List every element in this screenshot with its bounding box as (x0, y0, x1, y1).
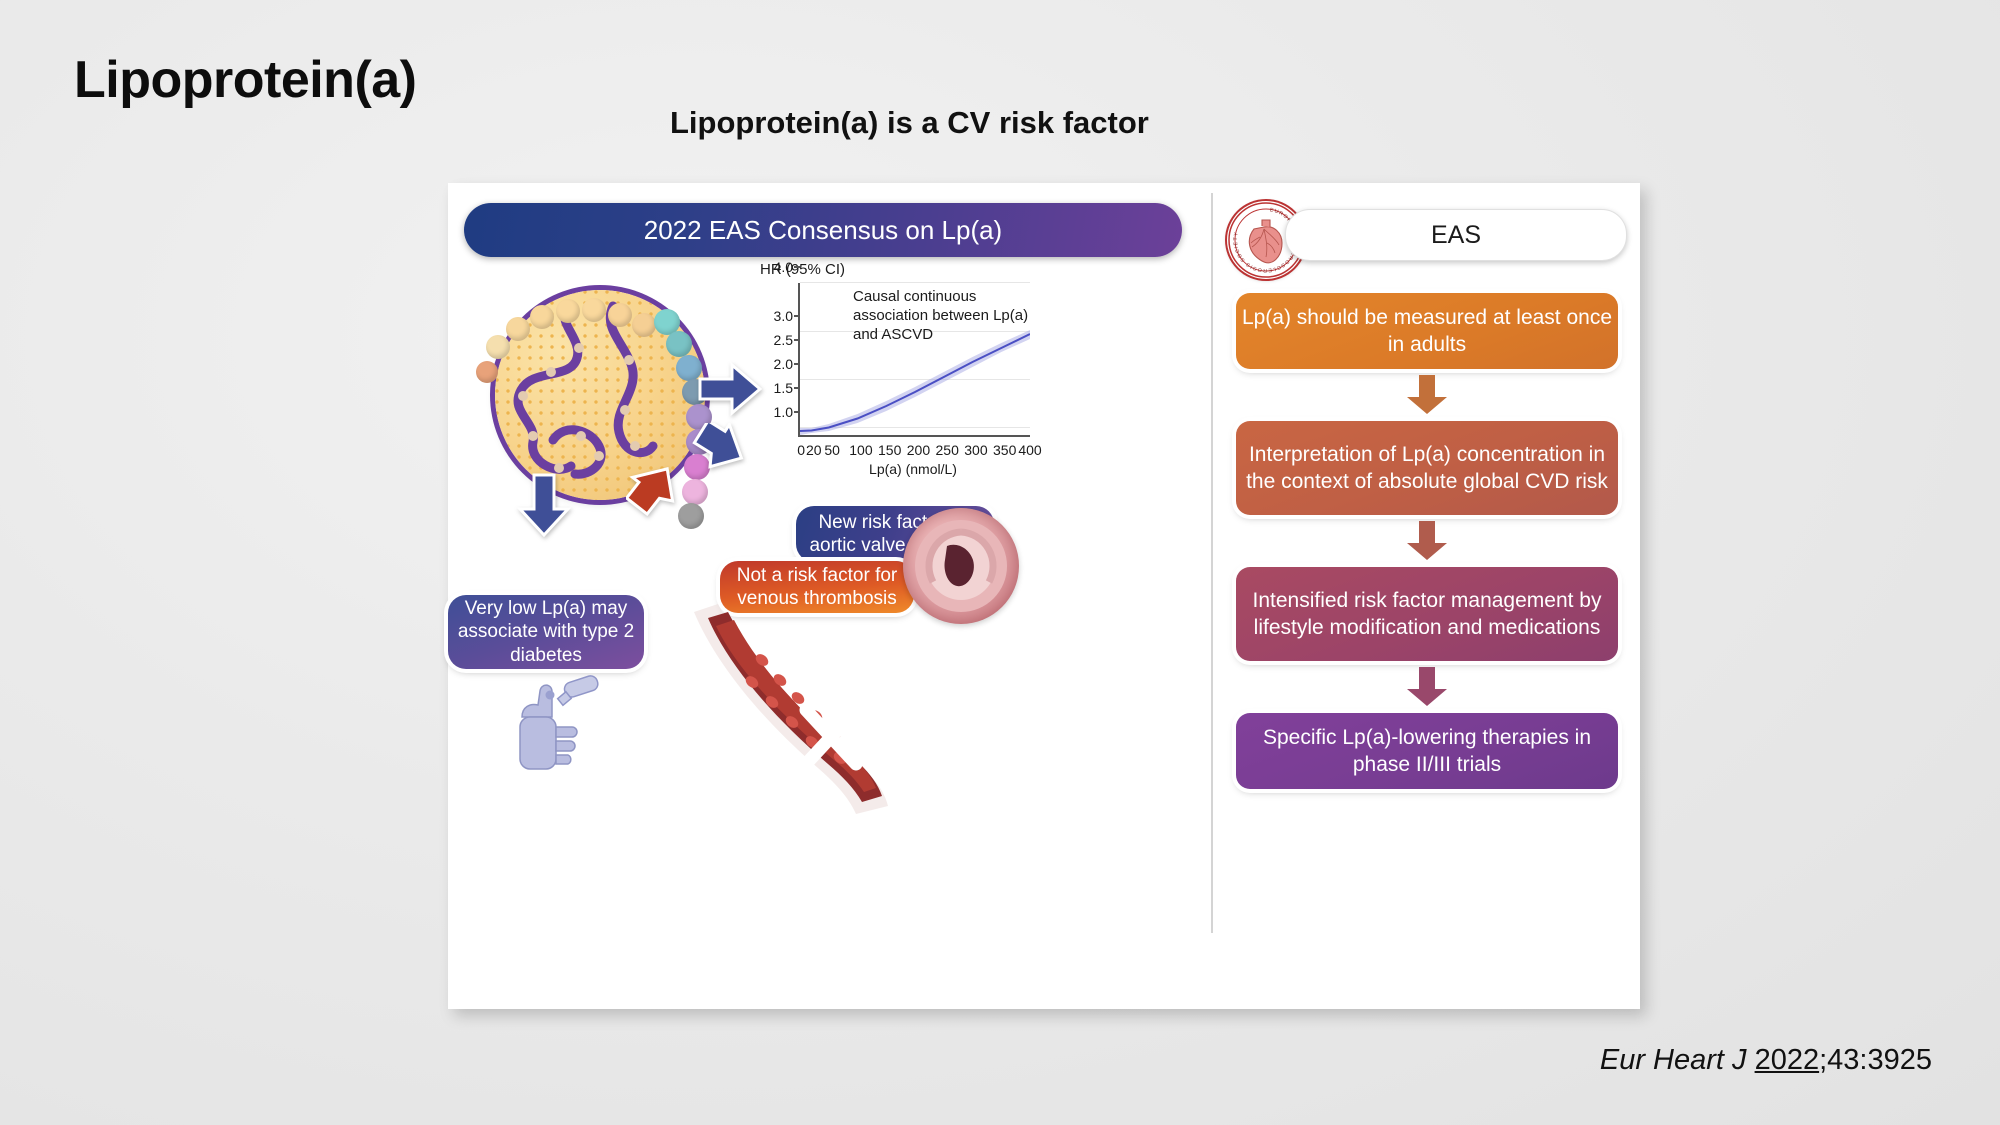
citation: Eur Heart J 2022;43:3925 (1600, 1044, 1932, 1077)
chart-x-tick: 400 (1018, 435, 1041, 458)
callout-diabetes-label: Very low Lp(a) may associate with type 2… (448, 597, 644, 667)
corona-bead (486, 335, 510, 359)
flow-arrow-1-icon (1405, 375, 1449, 415)
corona-bead (476, 361, 498, 383)
chart-x-tick: 50 (824, 435, 840, 458)
corona-bead (608, 303, 632, 327)
lipoprotein-particle-illustration (470, 265, 730, 525)
arrow-to-aortic-icon (692, 423, 748, 481)
chart-y-tick: 2.5 (774, 332, 800, 348)
chart-y-tick: 1.0 (774, 404, 800, 420)
slide-subtitle: Lipoprotein(a) is a CV risk factor (670, 105, 1149, 141)
hr-chart: HR (95% CI) 4.0 3.0 2.5 2.0 1.5 1.0 (748, 261, 1048, 481)
citation-journal: Eur Heart J (1600, 1044, 1747, 1076)
flow-step-lowering-therapies: Specific Lp(a)-lowering therapies in pha… (1236, 713, 1618, 789)
flow-step-4-label: Specific Lp(a)-lowering therapies in pha… (1236, 724, 1618, 779)
callout-type2-diabetes: Very low Lp(a) may associate with type 2… (448, 595, 644, 669)
chart-y-tick: 2.0 (774, 356, 800, 372)
chart-x-tick: 350 (993, 435, 1016, 458)
flow-step-2-label: Interpretation of Lp(a) concentration in… (1236, 441, 1618, 496)
corona-bead (666, 331, 692, 357)
figure-card: 2022 EAS Consensus on Lp(a) (448, 183, 1640, 1009)
corona-bead (582, 298, 606, 322)
chart-y-tick: 4.0 (774, 259, 800, 275)
chart-x-tick: 100 (849, 435, 872, 458)
flow-step-3-label: Intensified risk factor management by li… (1236, 587, 1618, 642)
flow-arrow-3-icon (1405, 667, 1449, 707)
flow-step-measure-lpa: Lp(a) should be measured at least once i… (1236, 293, 1618, 369)
consensus-banner: 2022 EAS Consensus on Lp(a) (464, 203, 1182, 257)
chart-x-tick: 150 (878, 435, 901, 458)
chart-annotation: Causal continuous association between Lp… (853, 287, 1048, 345)
page-title: Lipoprotein(a) (74, 50, 417, 110)
flow-step-intensified-management: Intensified risk factor management by li… (1236, 567, 1618, 661)
right-panel: EUROPEAN ATHEROSCLEROSIS SOCIETY EAS (1213, 183, 1640, 1009)
citation-volume-page: ;43:3925 (1819, 1044, 1932, 1076)
chart-x-tick: 300 (964, 435, 987, 458)
chart-x-axis-title: Lp(a) (nmol/L) (798, 461, 1028, 477)
flow-step-1-label: Lp(a) should be measured at least once i… (1236, 304, 1618, 359)
corona-bead (556, 299, 580, 323)
corona-bead (530, 305, 554, 329)
eas-header-pill: EAS (1285, 209, 1627, 261)
flow-arrow-2-icon (1405, 521, 1449, 561)
chart-x-tick: 250 (936, 435, 959, 458)
flow-step-interpretation: Interpretation of Lp(a) concentration in… (1236, 421, 1618, 515)
blood-vessel-illustration (688, 598, 918, 818)
eas-header-label: EAS (1431, 221, 1481, 250)
arrow-to-venous-icon (626, 465, 682, 523)
chart-y-tick: 3.0 (774, 308, 800, 324)
chart-x-tick: 20 (806, 435, 822, 458)
corona-bead (506, 317, 530, 341)
citation-year: 2022 (1755, 1044, 1820, 1076)
chart-x-tick: 0 (797, 435, 805, 458)
aortic-valve-illustration (903, 508, 1019, 624)
corona-bead (632, 313, 656, 337)
corona-bead (682, 479, 708, 505)
finger-prick-test-illustration (500, 673, 610, 778)
consensus-banner-label: 2022 EAS Consensus on Lp(a) (644, 215, 1002, 246)
left-panel: 2022 EAS Consensus on Lp(a) (448, 183, 1211, 1009)
chart-x-tick: 200 (907, 435, 930, 458)
arrow-to-diabetes-icon (516, 473, 572, 537)
chart-y-tick: 1.5 (774, 380, 800, 396)
